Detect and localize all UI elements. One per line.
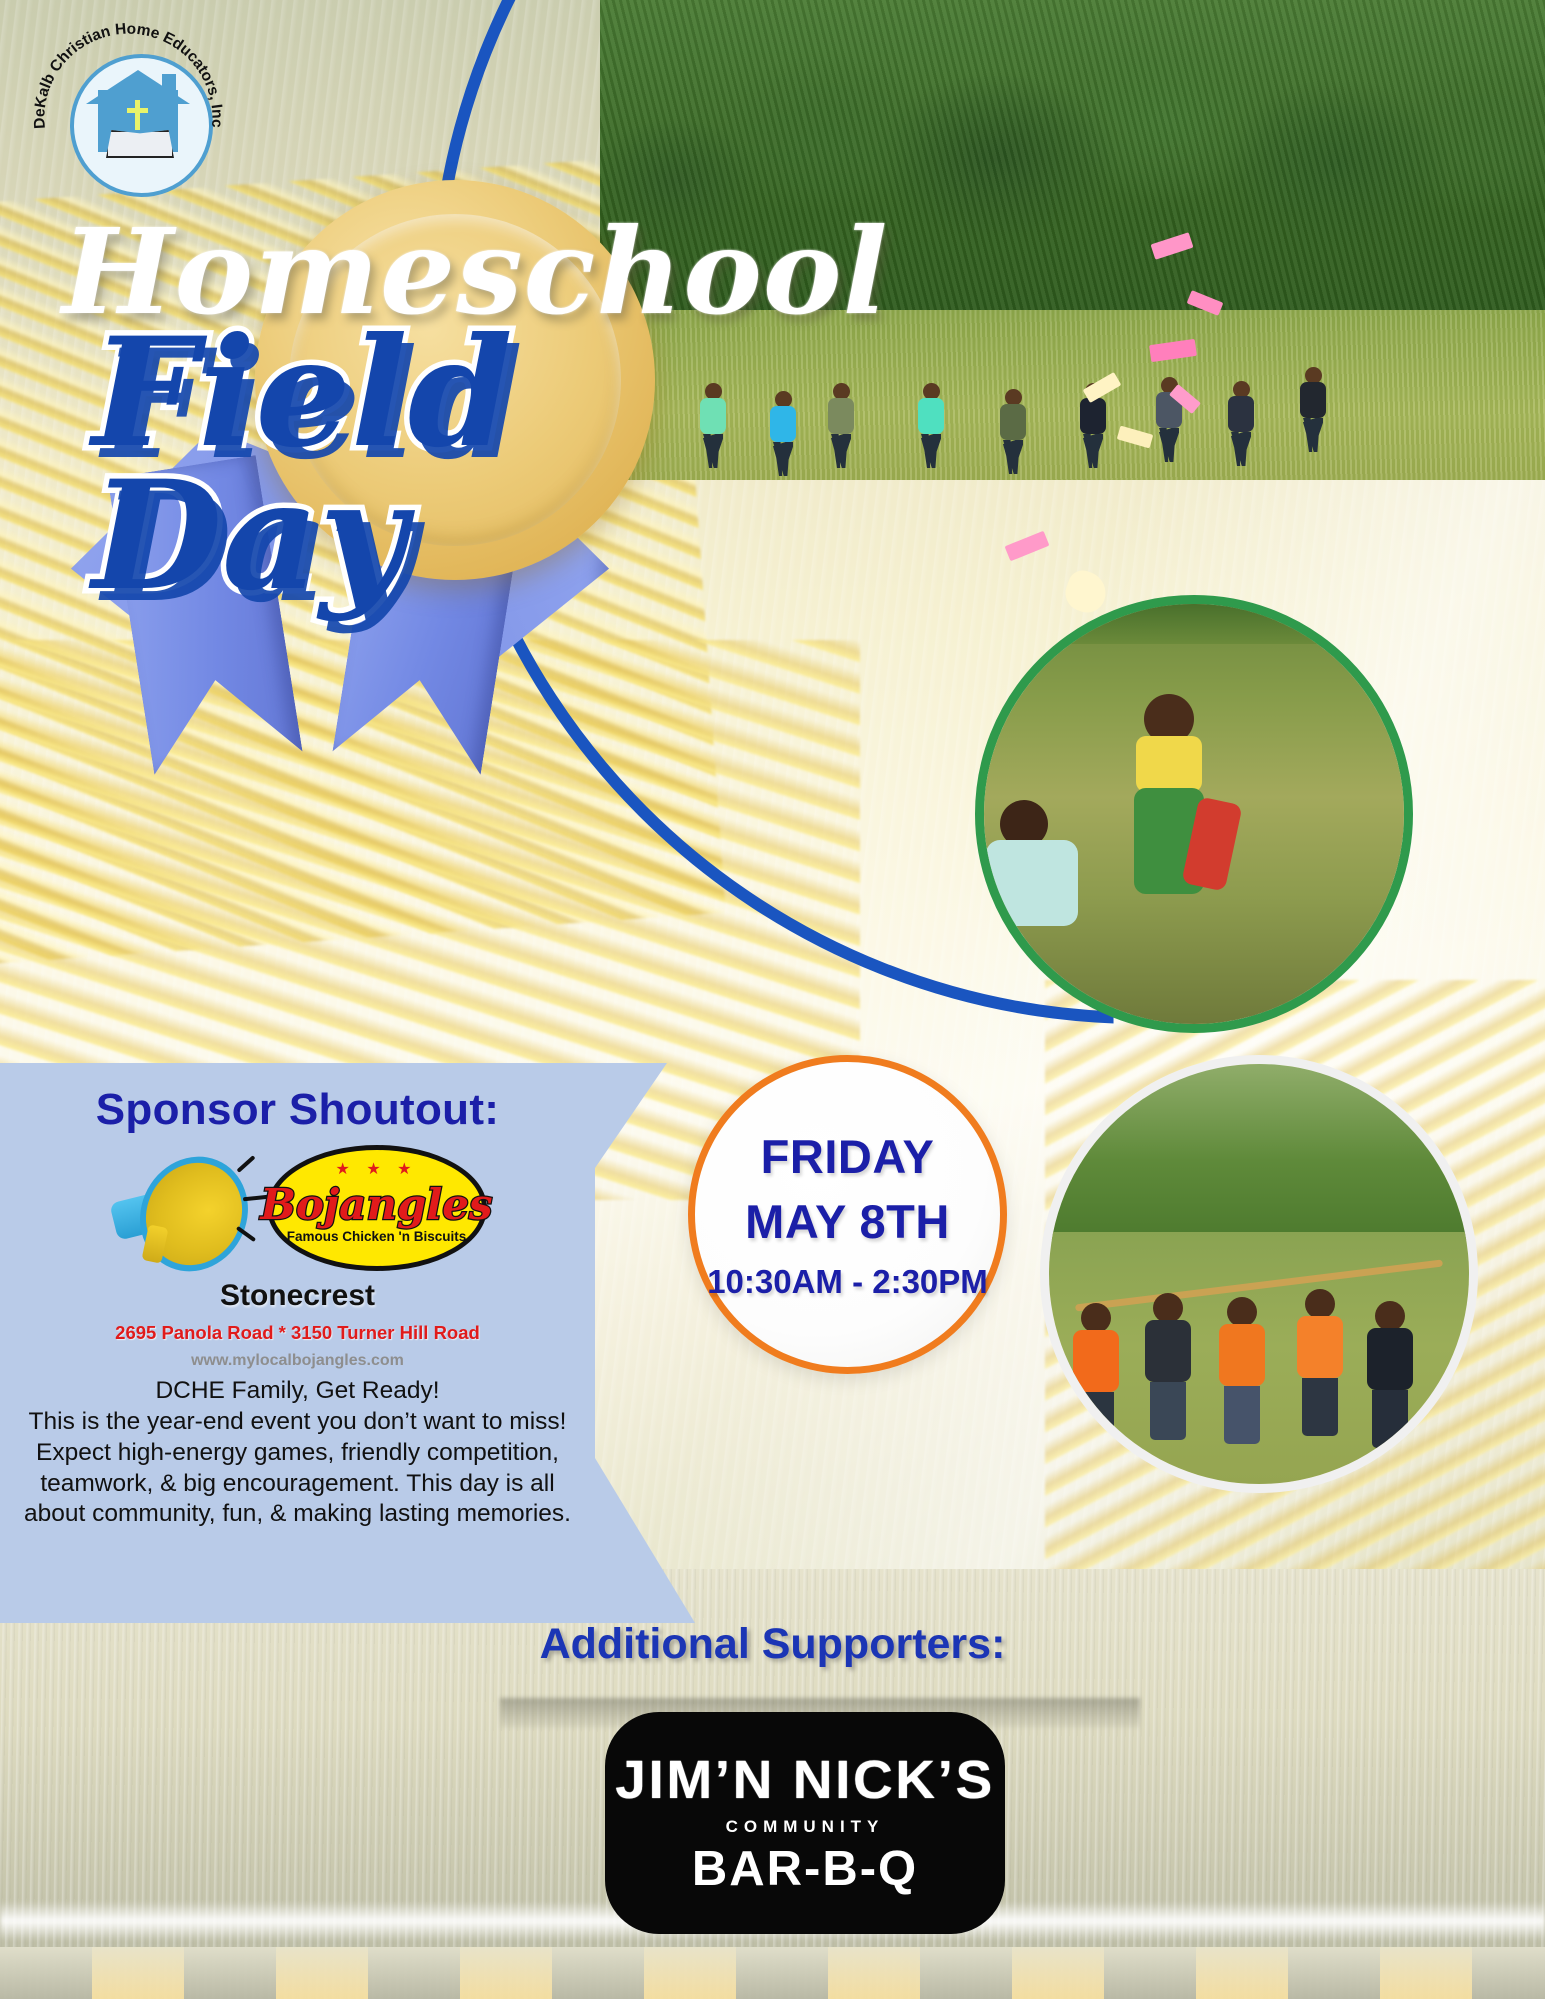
bojangles-stars: ★ ★ ★ xyxy=(272,1159,482,1179)
event-time: 10:30AM - 2:30PM xyxy=(707,1263,988,1301)
sponsor-store-name: Stonecrest xyxy=(0,1279,595,1313)
sponsor-address: 2695 Panola Road * 3150 Turner Hill Road xyxy=(0,1322,595,1344)
sponsor-heading: Sponsor Shoutout: xyxy=(0,1063,595,1135)
bojangles-wordmark: Bojangles xyxy=(260,1184,492,1226)
event-date: MAY 8TH xyxy=(745,1194,950,1249)
svg-text:DeKalb Christian Home Educator: DeKalb Christian Home Educators, Inc. xyxy=(28,22,226,129)
jnn-line-1: JIM’N NICK’S xyxy=(615,1749,994,1811)
sack-race-photo xyxy=(975,595,1413,1033)
sponsor-panel-notch-top xyxy=(595,1063,667,1168)
event-day: FRIDAY xyxy=(761,1129,935,1184)
title-line-field-day: Field Day xyxy=(0,322,700,607)
photo-distant-treeline xyxy=(984,604,1404,644)
tug-of-war-photo xyxy=(1040,1055,1478,1493)
event-date-badge: FRIDAY MAY 8TH 10:30AM - 2:30PM xyxy=(688,1055,1007,1374)
supporters-heading: Additional Supporters: xyxy=(0,1620,1545,1669)
dche-logo: DeKalb Christian Home Educators, Inc. xyxy=(28,22,228,202)
flyer-title: Homeschool Field Day xyxy=(0,215,700,607)
jim-n-nicks-logo: JIM’N NICK’S COMMUNITY BAR-B-Q xyxy=(605,1712,1005,1934)
jnn-line-2: COMMUNITY xyxy=(726,1817,885,1837)
sponsor-logo-row: ★ ★ ★ Bojangles Famous Chicken 'n Biscui… xyxy=(0,1145,595,1271)
megaphone-icon xyxy=(109,1152,259,1264)
event-description: DCHE Family, Get Ready!This is the year-… xyxy=(0,1370,595,1530)
flyer-canvas: Homeschool Field Day DeKalb Christian Ho… xyxy=(0,0,1545,1999)
sponsor-panel-notch-bottom xyxy=(595,1458,695,1623)
bojangles-logo: ★ ★ ★ Bojangles Famous Chicken 'n Biscui… xyxy=(267,1145,487,1271)
photo-treeline xyxy=(1049,1064,1469,1240)
logo-circular-text: DeKalb Christian Home Educators, Inc. xyxy=(28,22,228,202)
sponsor-website[interactable]: www.mylocalbojangles.com xyxy=(0,1352,595,1370)
bojangles-tagline: Famous Chicken 'n Biscuits xyxy=(287,1229,467,1244)
sponsor-panel: Sponsor Shoutout: ★ ★ ★ Bojangles Famous… xyxy=(0,1063,595,1623)
jnn-line-3: BAR-B-Q xyxy=(692,1841,918,1897)
checker-strip-fade xyxy=(0,1947,1545,1999)
